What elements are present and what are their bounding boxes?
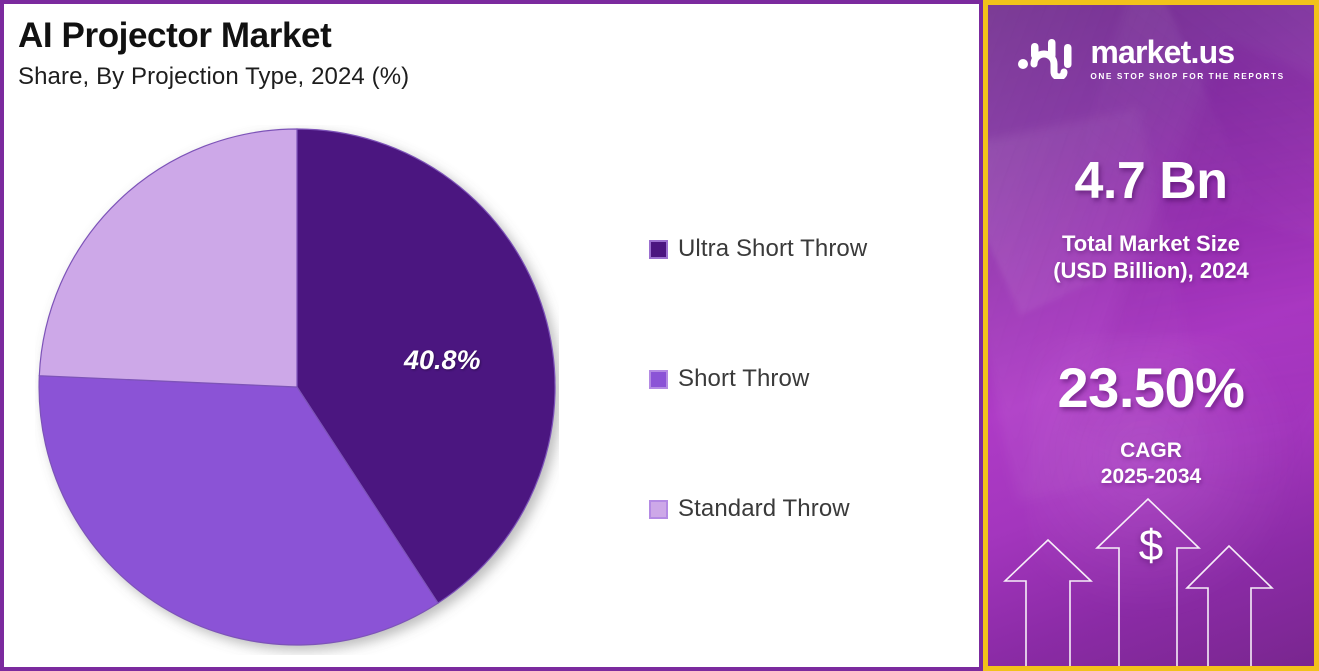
cagr-caption-line1: CAGR xyxy=(1120,439,1182,462)
logo-mark-svg xyxy=(1017,33,1079,79)
legend-item-standard-throw[interactable]: Standard Throw xyxy=(649,444,949,574)
market-size-caption-line2: (USD Billion), 2024 xyxy=(988,258,1314,285)
arrow-right xyxy=(1187,546,1272,666)
pie-chart-svg xyxy=(35,125,559,655)
stats-panel: market.us ONE STOP SHOP FOR THE REPORTS … xyxy=(983,0,1319,671)
brand-tagline: ONE STOP SHOP FOR THE REPORTS xyxy=(1090,72,1284,80)
brand-text-block: market.us ONE STOP SHOP FOR THE REPORTS xyxy=(1090,36,1284,80)
chart-panel: AI Projector Market Share, By Projection… xyxy=(0,0,983,671)
pie-slice-standard-throw xyxy=(39,129,297,387)
title-block: AI Projector Market Share, By Projection… xyxy=(18,16,409,91)
legend-item-label: Short Throw xyxy=(678,365,809,393)
legend-swatch-icon xyxy=(649,370,668,389)
market-us-logo-icon xyxy=(1017,33,1079,84)
brand-name: market.us xyxy=(1090,36,1234,68)
market-size-stat: 4.7 Bn Total Market Size (USD Billion), … xyxy=(988,155,1314,285)
market-size-value: 4.7 Bn xyxy=(988,155,1314,207)
growth-arrows-icon xyxy=(988,496,1314,666)
chart-legend: Ultra Short Throw Short Throw Standard T… xyxy=(649,184,949,574)
arrow-center xyxy=(1097,499,1199,666)
cagr-stat: 23.50% CAGR 2025-2034 xyxy=(988,360,1314,489)
legend-item-label: Standard Throw xyxy=(678,495,850,523)
market-size-caption-line1: Total Market Size xyxy=(1062,231,1240,256)
legend-swatch-icon xyxy=(649,240,668,259)
legend-item-short-throw[interactable]: Short Throw xyxy=(649,314,949,444)
infographic-root: AI Projector Market Share, By Projection… xyxy=(0,0,1319,671)
market-size-caption: Total Market Size (USD Billion), 2024 xyxy=(988,231,1314,285)
legend-swatch-icon xyxy=(649,500,668,519)
legend-item-label: Ultra Short Throw xyxy=(678,235,867,263)
cagr-caption-line2: 2025-2034 xyxy=(988,464,1314,490)
arrow-left xyxy=(1005,540,1091,666)
page-subtitle: Share, By Projection Type, 2024 (%) xyxy=(18,63,409,91)
page-title: AI Projector Market xyxy=(18,16,409,56)
legend-item-ultra-short-throw[interactable]: Ultra Short Throw xyxy=(649,184,949,314)
brand-logo[interactable]: market.us ONE STOP SHOP FOR THE REPORTS xyxy=(988,33,1314,84)
cagr-value: 23.50% xyxy=(988,360,1314,416)
pie-slice-value-label: 40.8% xyxy=(404,345,481,376)
pie-chart xyxy=(35,125,559,655)
cagr-caption: CAGR 2025-2034 xyxy=(988,438,1314,489)
pie-slices xyxy=(39,129,555,645)
